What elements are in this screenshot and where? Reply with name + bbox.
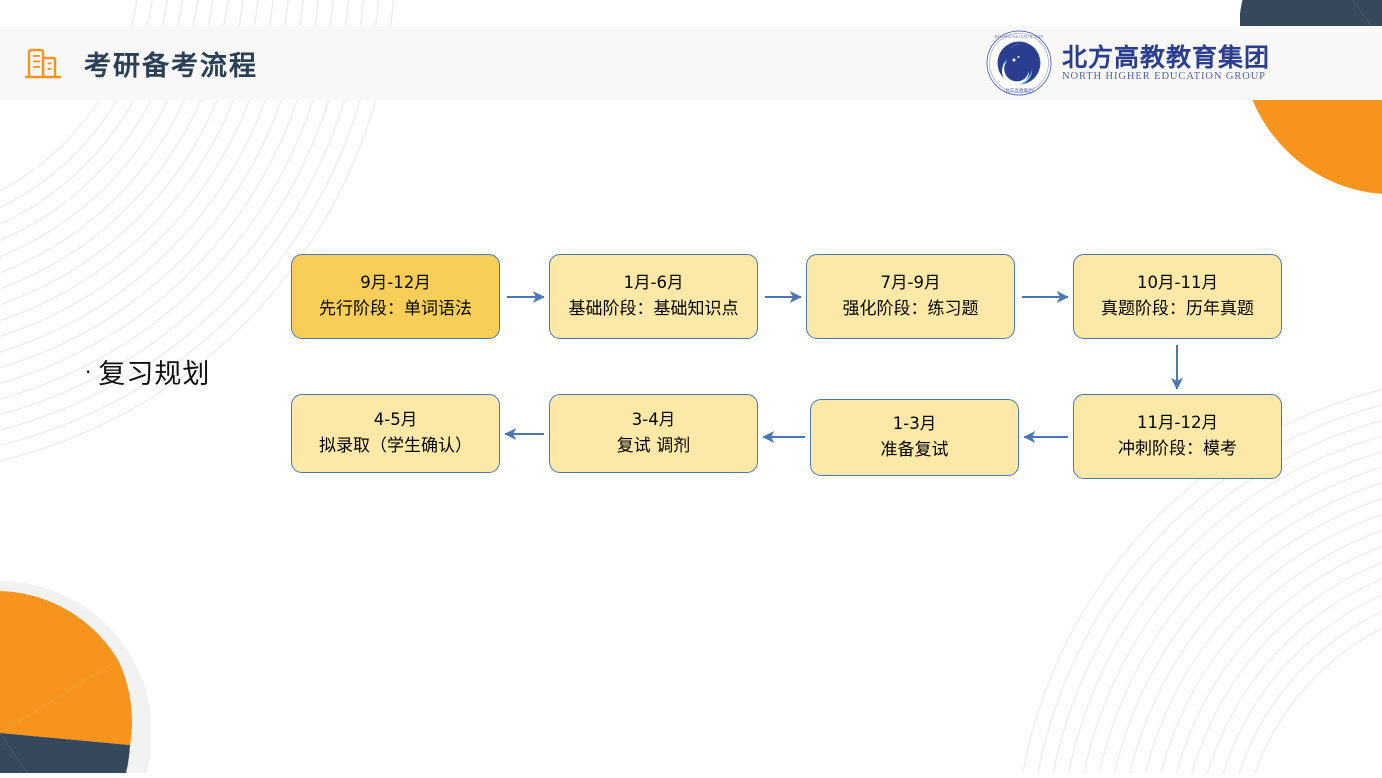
flow-box-stage-1[interactable]: 9月-12月先行阶段：单词语法 [291,254,500,339]
flow-box-stage-6[interactable]: 1-3月准备复试 [810,399,1019,476]
flow-box-stage-2[interactable]: 1月-6月基础阶段：基础知识点 [549,254,758,339]
flow-box-period: 9月-12月 [360,274,430,291]
flow-box-detail: 冲刺阶段：模考 [1118,441,1237,459]
flow-box-stage-7[interactable]: 3-4月复试 调剂 [549,394,758,473]
flow-box-period: 7月-9月 [881,274,941,291]
flow-box-detail: 强化阶段：练习题 [843,301,979,319]
flow-chart: 9月-12月先行阶段：单词语法1月-6月基础阶段：基础知识点7月-9月强化阶段：… [0,0,1382,773]
flow-box-detail: 真题阶段：历年真题 [1101,301,1254,319]
flow-box-period: 10月-11月 [1137,274,1218,291]
flow-box-period: 3-4月 [632,411,675,428]
flow-box-detail: 复试 调剂 [617,438,690,456]
flow-box-stage-4[interactable]: 10月-11月真题阶段：历年真题 [1073,254,1282,339]
flow-box-period: 11月-12月 [1137,414,1218,431]
flow-box-detail: 基础阶段：基础知识点 [569,301,739,319]
flow-box-detail: 准备复试 [881,442,949,460]
flow-box-detail: 先行阶段：单词语法 [319,301,472,319]
flow-box-stage-5[interactable]: 11月-12月冲刺阶段：模考 [1073,394,1282,479]
flow-box-stage-3[interactable]: 7月-9月强化阶段：练习题 [806,254,1015,339]
flow-box-period: 4-5月 [374,411,417,428]
flow-box-period: 1-3月 [893,415,936,432]
flow-box-detail: 拟录取（学生确认） [319,438,472,456]
flow-box-stage-8[interactable]: 4-5月拟录取（学生确认） [291,394,500,473]
flow-box-period: 1月-6月 [624,274,684,291]
